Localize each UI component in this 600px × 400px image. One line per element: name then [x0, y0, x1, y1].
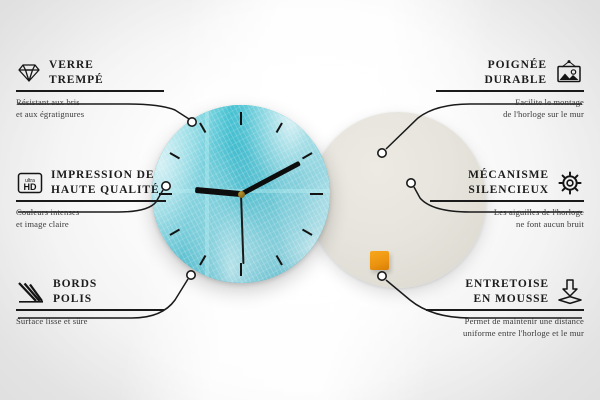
callout-divider: [430, 200, 584, 202]
ultra-hd-icon-bottom-text: HD: [24, 182, 37, 192]
callout-title-line1: VERRE: [49, 58, 104, 73]
callout-header: ENTRETOISE EN MOUSSE: [426, 277, 584, 306]
callout-mecanisme-silencieux: MÉCANISME SILENCIEUX Les aiguilles de l'…: [430, 168, 584, 230]
callout-impression-haute-qualite: ultra HD IMPRESSION DE HAUTE QUALITÉ Cou…: [16, 168, 166, 230]
callout-title: VERRE TREMPÉ: [49, 58, 104, 87]
callout-subtitle: Les aiguilles de l'horloge ne font aucun…: [430, 206, 584, 230]
callout-subtitle: Couleurs intenses et image claire: [16, 206, 166, 230]
callout-sub-line2: de l'horloge sur le mur: [436, 108, 584, 120]
foam-spacer-arrow-icon: [556, 279, 584, 305]
callout-header: ultra HD IMPRESSION DE HAUTE QUALITÉ: [16, 168, 166, 197]
callout-header: MÉCANISME SILENCIEUX: [430, 168, 584, 197]
callout-title-line1: POIGNÉE: [484, 58, 547, 73]
callout-sub-line1: Résistant aux bris: [16, 96, 164, 108]
callout-sub-line1: Surface lisse et sûre: [16, 315, 164, 327]
infographic-canvas: VERRE TREMPÉ Résistant aux bris et aux é…: [0, 0, 600, 400]
ultra-hd-badge-icon: ultra HD: [16, 171, 44, 195]
callout-divider: [16, 200, 166, 202]
callout-divider: [426, 309, 584, 311]
gear-icon: [556, 170, 584, 196]
callout-title: IMPRESSION DE HAUTE QUALITÉ: [51, 168, 160, 197]
callout-title: MÉCANISME SILENCIEUX: [468, 168, 549, 197]
callout-sub-line1: Permet de maintenir une distance: [426, 315, 584, 327]
callout-header: VERRE TREMPÉ: [16, 58, 164, 87]
callout-sub-line1: Facilite le montage: [436, 96, 584, 108]
callout-divider: [16, 309, 164, 311]
callout-title-line2: TREMPÉ: [49, 73, 104, 88]
callout-sub-line2: ne font aucun bruit: [430, 218, 584, 230]
callout-sub-line1: Les aiguilles de l'horloge: [430, 206, 584, 218]
callout-subtitle: Résistant aux bris et aux égratignures: [16, 96, 164, 120]
callout-title-line2: DURABLE: [484, 73, 547, 88]
callout-divider: [436, 90, 584, 92]
callout-title: POIGNÉE DURABLE: [484, 58, 547, 87]
callout-title-line1: BORDS: [53, 277, 97, 292]
callout-title-line1: ENTRETOISE: [465, 277, 549, 292]
callout-verre-trempe: VERRE TREMPÉ Résistant aux bris et aux é…: [16, 58, 164, 120]
callout-subtitle: Facilite le montage de l'horloge sur le …: [436, 96, 584, 120]
callout-title: BORDS POLIS: [53, 277, 97, 306]
diamond-icon: [16, 62, 42, 84]
callout-sub-line1: Couleurs intenses: [16, 206, 166, 218]
callout-header: BORDS POLIS: [16, 277, 164, 306]
callout-poignee-durable: POIGNÉE DURABLE Facilite le montage de l…: [436, 58, 584, 120]
callout-header: POIGNÉE DURABLE: [436, 58, 584, 87]
callout-title-line1: IMPRESSION DE: [51, 168, 160, 183]
callout-subtitle: Surface lisse et sûre: [16, 315, 164, 327]
callout-title-line2: SILENCIEUX: [468, 183, 549, 198]
callout-divider: [16, 90, 164, 92]
callout-sub-line2: et aux égratignures: [16, 108, 164, 120]
polished-edges-icon: [16, 280, 46, 304]
callout-sub-line2: uniforme entre l'horloge et le mur: [426, 327, 584, 339]
callout-sub-line2: et image claire: [16, 218, 166, 230]
callout-bords-polis: BORDS POLIS Surface lisse et sûre: [16, 277, 164, 327]
callout-title-line1: MÉCANISME: [468, 168, 549, 183]
callout-title-line2: POLIS: [53, 292, 97, 307]
callout-title-line2: EN MOUSSE: [465, 292, 549, 307]
picture-frame-hanger-icon: [554, 60, 584, 86]
callout-entretoise-en-mousse: ENTRETOISE EN MOUSSE Permet de maintenir…: [426, 277, 584, 339]
callout-title: ENTRETOISE EN MOUSSE: [465, 277, 549, 306]
callout-title-line2: HAUTE QUALITÉ: [51, 183, 160, 198]
callout-subtitle: Permet de maintenir une distance uniform…: [426, 315, 584, 339]
